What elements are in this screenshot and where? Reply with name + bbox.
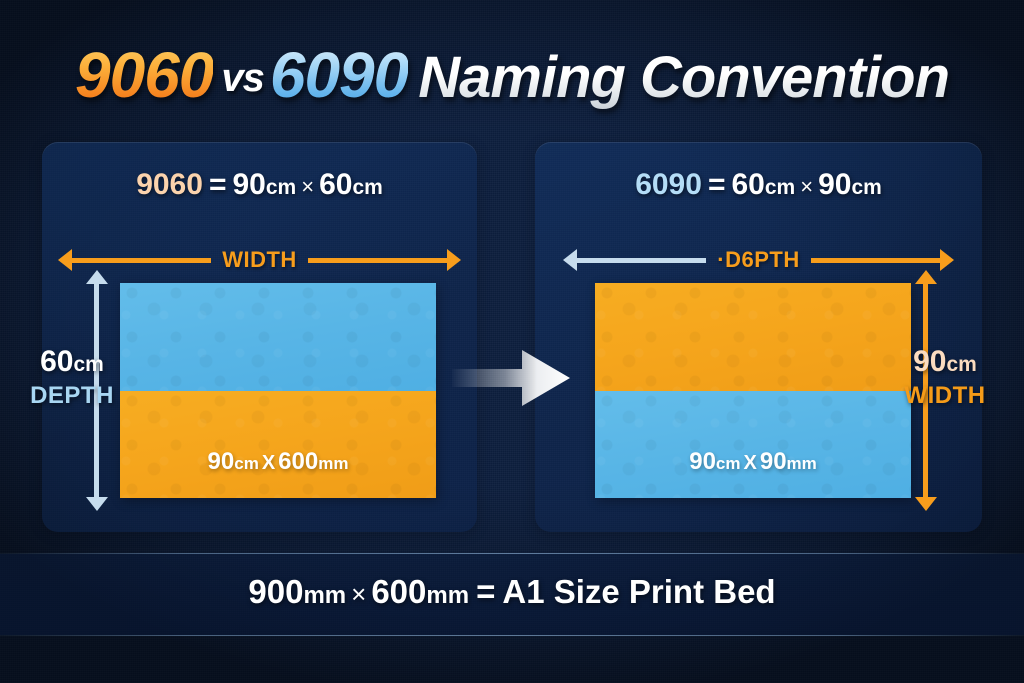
depth-label-left: 60cm DEPTH (0, 345, 152, 410)
heading-value-a: 90 (232, 168, 265, 201)
heading-times: × (800, 174, 813, 199)
width-label-right: 90cm WIDTH (865, 345, 1024, 410)
title-vs: vs (221, 56, 264, 101)
bed-value-a: 90 (208, 448, 235, 475)
arrow-head-left-icon (58, 249, 72, 271)
heading-unit-a: cm (266, 176, 296, 199)
heading-unit-b: cm (352, 176, 382, 199)
panel-6090: 6090=60cm×90cm ·D6PTH 90cmX90mm 90cm (535, 142, 982, 532)
bed-unit-b: mm (318, 454, 348, 473)
heading-equals: = (708, 168, 726, 201)
bed-value-b: 90 (760, 448, 787, 475)
width-value: 90 (913, 345, 946, 378)
heading-value-b: 60 (319, 168, 352, 201)
depth-sublabel: DEPTH (0, 382, 152, 410)
heading-equals: = (209, 168, 227, 201)
banner-divider-bottom (0, 635, 1024, 636)
depth-value-line: 60cm (0, 345, 152, 379)
arrow-shaft-right (308, 258, 448, 263)
bed-bottom-half (120, 391, 436, 499)
depth-unit: cm (74, 353, 104, 376)
banner-text: 900mm×600mm=A1 Size Print Bed (0, 573, 1024, 611)
width-sublabel: WIDTH (865, 382, 1024, 410)
arrow-head-right-icon (940, 249, 954, 271)
heading-value-a: 60 (731, 168, 764, 201)
transition-right-arrow-icon (452, 347, 572, 409)
panel-right-heading: 6090=60cm×90cm (535, 168, 982, 202)
bed-dimension-label: 90cmX90mm (595, 448, 911, 476)
banner-equals: = (476, 573, 495, 610)
heading-times: × (301, 174, 314, 199)
bed-times: X (262, 452, 275, 474)
bed-top-half (595, 283, 911, 391)
width-arrow-label: WIDTH (211, 247, 308, 273)
bed-times: X (744, 452, 757, 474)
panel-left-heading: 9060=90cm×60cm (42, 168, 477, 202)
arrow-shaft-left (71, 258, 211, 263)
title-code-6090: 6090 (270, 38, 408, 112)
banner-unit-b: mm (426, 582, 469, 609)
width-unit: cm (947, 353, 977, 376)
arrow-head-down-icon (86, 497, 108, 511)
arrow-shaft-left (576, 258, 706, 263)
print-bed-right: 90cmX90mm (595, 283, 911, 498)
arrow-head-up-icon (915, 270, 937, 284)
banner-value-a: 900 (248, 573, 303, 610)
heading-value-b: 90 (818, 168, 851, 201)
bed-top-half (120, 283, 436, 391)
arrow-head-up-icon (86, 270, 108, 284)
print-bed-left: 90cmX600mm (120, 283, 436, 498)
arrow-head-left-icon (563, 249, 577, 271)
bed-unit-a: cm (234, 454, 259, 473)
arrow-head-down-icon (915, 497, 937, 511)
infographic-canvas: 9060vs6090Naming Convention 9060=90cm×60… (0, 0, 1024, 683)
bed-value-b: 600 (278, 448, 318, 475)
heading-unit-a: cm (765, 176, 795, 199)
bed-value-a: 90 (689, 448, 716, 475)
page-title: 9060vs6090Naming Convention (0, 38, 1024, 112)
width-value-line: 90cm (865, 345, 1024, 379)
bed-bottom-half (595, 391, 911, 499)
banner-value-b: 600 (371, 573, 426, 610)
heading-code: 6090 (635, 168, 702, 201)
banner-result: A1 Size Print Bed (502, 573, 775, 610)
bed-unit-a: cm (716, 454, 741, 473)
banner-times: × (351, 579, 366, 609)
depth-value: 60 (40, 345, 73, 378)
depth-arrow-label: ·D6PTH (706, 247, 810, 273)
arrow-shaft-right (811, 258, 941, 263)
banner-divider-top (0, 553, 1024, 554)
panel-9060: 9060=90cm×60cm WIDTH 90cmX600mm 60cm (42, 142, 477, 532)
heading-unit-b: cm (851, 176, 881, 199)
arrow-head-right-icon (447, 249, 461, 271)
title-rest: Naming Convention (418, 44, 949, 111)
heading-code: 9060 (136, 168, 203, 201)
bed-dimension-label: 90cmX600mm (120, 448, 436, 476)
title-code-9060: 9060 (75, 38, 213, 112)
bed-unit-b: mm (787, 454, 817, 473)
banner-unit-a: mm (303, 582, 346, 609)
